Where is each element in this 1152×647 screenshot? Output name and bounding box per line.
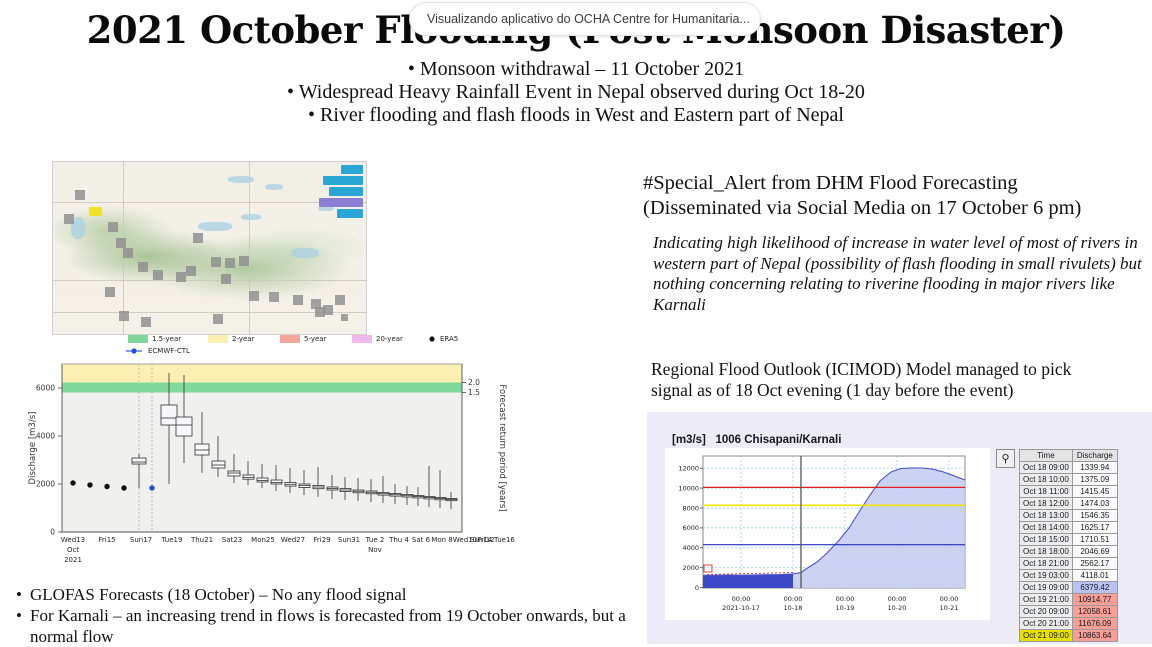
map-road [249, 162, 250, 334]
nepal-station-map[interactable] [52, 161, 367, 335]
map-marker[interactable] [105, 287, 115, 297]
cell-discharge: 1375.09 [1072, 474, 1117, 486]
x-sublabel-oct: Oct [67, 546, 79, 554]
bullet-dot: • [8, 605, 30, 647]
icimod-y-ticks: 12000 10000 8000 6000 4000 2000 0 [678, 465, 699, 593]
y-tick-6000: 6000 [682, 524, 699, 532]
map-marker[interactable] [116, 238, 126, 248]
map-road [53, 280, 366, 281]
map-legend-buttons[interactable] [319, 165, 363, 218]
map-marker[interactable] [221, 274, 231, 284]
zoom-icon[interactable]: ⚲ [996, 449, 1015, 468]
y-tick-labels: 0 2000 4000 6000 [36, 384, 62, 537]
x-tick-time-1: 00:00 [732, 595, 751, 603]
legend-label-1_5-year: 1.5-year [152, 335, 181, 343]
x-tick-mon25: Mon25 [251, 536, 275, 544]
cell-time: Oct 18 21:00 [1020, 558, 1073, 570]
x-tick-sun31: Sun31 [338, 536, 360, 544]
era5-point [70, 480, 75, 485]
y-tick-2000: 2000 [36, 480, 55, 489]
map-marker[interactable] [239, 256, 249, 266]
map-marker[interactable] [64, 214, 74, 224]
cell-time: Oct 20 09:00 [1020, 606, 1073, 618]
table-row[interactable]: Oct 20 09:0012058.61 [1020, 606, 1118, 618]
icimod-panel: [m3/s] 1006 Chisapani/Karnali [647, 412, 1152, 644]
x-tick-tue2: Tue 2 [365, 536, 385, 544]
bullet-dot: • [8, 584, 30, 605]
table-row[interactable]: Oct 21 09:0010863.64 [1020, 630, 1118, 642]
cell-discharge: 1474.03 [1072, 498, 1117, 510]
x-tick-wed13: Wed13 [61, 536, 85, 544]
list-item: • For Karnali – an increasing trend in f… [8, 605, 628, 647]
x-tick-thu4: Thu 4 [388, 536, 409, 544]
legend-label-ecmwf-ctl: ECMWF-CTL [148, 347, 190, 355]
regional-outlook-caption: Regional Flood Outlook (ICIMOD) Model ma… [651, 359, 1151, 401]
table-body: Oct 18 09:001339.94Oct 18 10:001375.09Oc… [1020, 462, 1118, 642]
y-tick-0: 0 [50, 528, 55, 537]
column-header-time: Time [1020, 450, 1073, 462]
y-tick-2000: 2000 [682, 564, 699, 572]
subtitle-line-3: • River flooding and flash floods in Wes… [0, 104, 1152, 127]
cell-time: Oct 19 03:00 [1020, 570, 1073, 582]
cell-time: Oct 18 14:00 [1020, 522, 1073, 534]
x-tick-sat6: Sat 6 [412, 536, 431, 544]
legend-label-era5: ERA5 [440, 335, 458, 343]
subtitle-bullets: • Monsoon withdrawal – 11 October 2021 •… [0, 58, 1152, 127]
x-tick-wed27: Wed27 [281, 536, 305, 544]
y-axis-label: Discharge [m3/s] [28, 412, 38, 485]
map-legend-button[interactable] [337, 209, 363, 218]
browser-tooltip: Visualizando aplicativo do OCHA Centre f… [409, 2, 761, 36]
map-marker[interactable] [186, 266, 196, 276]
x-tick-labels: Wed13 Fri15 Sun17 Tue19 Thu21 Sat23 Mon2… [61, 536, 495, 564]
glofas-boxplot-chart: 1.5-year 2-year 5-year 20-year ERA5 ECMW… [22, 332, 512, 572]
legend-label-2-year: 2-year [232, 335, 255, 343]
cell-time: Oct 19 21:00 [1020, 594, 1073, 606]
x-sublabel-nov: Nov [368, 546, 382, 554]
table-row[interactable]: Oct 18 12:001474.03 [1020, 498, 1118, 510]
icimod-data-table-wrap: ⚲ Time Discharge Oct 18 09:001339.94Oct … [1019, 449, 1118, 642]
x-tick-sat23: Sat23 [222, 536, 242, 544]
map-legend-button[interactable] [323, 176, 363, 185]
cell-discharge: 2046.69 [1072, 546, 1117, 558]
table-row[interactable]: Oct 18 21:002562.17 [1020, 558, 1118, 570]
map-marker[interactable] [249, 291, 259, 301]
x-tick-date-1: 2021-10-17 [722, 604, 760, 612]
table-row[interactable]: Oct 18 09:001339.94 [1020, 462, 1118, 474]
cell-time: Oct 18 10:00 [1020, 474, 1073, 486]
map-marker[interactable] [123, 248, 133, 258]
x-tick-date-2: 10-18 [784, 604, 803, 612]
x-tick-sun17: Sun17 [130, 536, 152, 544]
map-marker[interactable] [213, 314, 223, 324]
list-item: • GLOFAS Forecasts (18 October) – No any… [8, 584, 628, 605]
map-legend-button[interactable] [329, 187, 363, 196]
chart-legend: 1.5-year 2-year 5-year 20-year ERA5 ECMW… [126, 335, 458, 355]
regional-outlook-line2: signal as of 18 Oct evening (1 day befor… [651, 380, 1151, 401]
x-tick-fri15: Fri15 [98, 536, 115, 544]
map-marker[interactable] [269, 292, 279, 302]
legend-swatch-1_5-year [128, 335, 148, 343]
cell-time: Oct 18 12:00 [1020, 498, 1073, 510]
cell-discharge: 1339.94 [1072, 462, 1117, 474]
cell-discharge: 1625.17 [1072, 522, 1117, 534]
icimod-hydrograph-chart: 12000 10000 8000 6000 4000 2000 0 [665, 448, 990, 620]
y-tick-4000: 4000 [36, 432, 55, 441]
table-row[interactable]: Oct 18 13:001546.35 [1020, 510, 1118, 522]
table-row[interactable]: Oct 20 21:0011676.09 [1020, 618, 1118, 630]
table-row[interactable]: Oct 18 18:002046.69 [1020, 546, 1118, 558]
y2-axis-label: Forecast return period [years] [497, 384, 507, 511]
map-marker[interactable] [119, 311, 129, 321]
cell-discharge: 2562.17 [1072, 558, 1117, 570]
special-alert-heading: #Special_Alert from DHM Flood Forecastin… [643, 171, 1151, 221]
legend-swatch-2-year [208, 335, 228, 343]
y2-tick-labels: 2.0 1.5 [462, 378, 480, 397]
era5-point [104, 484, 109, 489]
map-water-body [198, 222, 232, 231]
slide-canvas: 2021 October Flooding (Post Monsoon Disa… [0, 0, 1152, 644]
cell-discharge: 1415.45 [1072, 486, 1117, 498]
band-1_5-year [63, 383, 462, 393]
icimod-x-ticks: 00:00 2021-10-17 00:00 10-18 00:00 10-19… [722, 595, 958, 612]
y-tick-10000: 10000 [678, 484, 699, 492]
cell-discharge: 1710.51 [1072, 534, 1117, 546]
legend-label-5-year: 5-year [304, 335, 327, 343]
x-tick-time-3: 00:00 [836, 595, 855, 603]
era5-point [87, 482, 92, 487]
cell-time: Oct 18 18:00 [1020, 546, 1073, 558]
y2-tick-2_0: 2.0 [468, 378, 480, 387]
x-tick-tue19: Tue19 [161, 536, 183, 544]
cell-time: Oct 18 09:00 [1020, 462, 1073, 474]
map-marker[interactable] [75, 190, 85, 200]
map-marker[interactable] [225, 258, 235, 268]
map-marker[interactable] [293, 295, 303, 305]
special-alert-heading-line2: (Disseminated via Social Media on 17 Oct… [643, 196, 1151, 221]
x-tick-date-3: 10-19 [836, 604, 855, 612]
map-marker[interactable] [176, 272, 186, 282]
map-marker[interactable] [193, 233, 203, 243]
map-marker-highlight[interactable] [89, 207, 102, 216]
map-water-body [241, 214, 261, 220]
cell-time: Oct 18 13:00 [1020, 510, 1073, 522]
ecmwf-ctl-point [149, 485, 154, 490]
regional-outlook-line1: Regional Flood Outlook (ICIMOD) Model ma… [651, 359, 1151, 380]
subtitle-line-1: • Monsoon withdrawal – 11 October 2021 [0, 58, 1152, 81]
x-tick-fri29: Fri29 [313, 536, 330, 544]
plot-area: 0 2000 4000 6000 Discharge [m3/s] 2.0 1.… [28, 364, 507, 564]
table-row[interactable]: Oct 18 15:001710.51 [1020, 534, 1118, 546]
table-row[interactable]: Oct 19 03:004118.01 [1020, 570, 1118, 582]
era5-point [121, 485, 126, 490]
cell-time: Oct 18 11:00 [1020, 486, 1073, 498]
special-alert-heading-line1: #Special_Alert from DHM Flood Forecastin… [643, 171, 1151, 196]
map-legend-button[interactable] [319, 198, 363, 207]
x-tick-time-5: 00:00 [940, 595, 959, 603]
map-water-body [228, 176, 254, 183]
y-tick-12000: 12000 [678, 465, 699, 473]
cell-discharge: 1546.35 [1072, 510, 1117, 522]
subtitle-line-2: • Widespread Heavy Rainfall Event in Nep… [0, 81, 1152, 104]
legend-swatch-5-year [280, 335, 300, 343]
map-water-body [265, 184, 283, 190]
map-marker[interactable] [141, 317, 151, 327]
tooltip-text: Visualizando aplicativo do OCHA Centre f… [427, 12, 750, 26]
x-tick-tue16-label: Tue16 [494, 536, 515, 544]
glofas-summary-bullets: • GLOFAS Forecasts (18 October) – No any… [8, 584, 628, 647]
y-tick-4000: 4000 [682, 544, 699, 552]
band-2-year [63, 365, 462, 383]
y-tick-0: 0 [695, 584, 699, 592]
cell-time: Oct 21 09:00 [1020, 630, 1073, 642]
cell-discharge: 10863.64 [1072, 630, 1117, 642]
x-tick-date-4: 10-20 [888, 604, 907, 612]
map-marker[interactable] [211, 257, 221, 267]
cell-time: Oct 18 15:00 [1020, 534, 1073, 546]
cell-discharge: 10914.77 [1072, 594, 1117, 606]
map-marker[interactable] [341, 314, 348, 321]
x-tick-time-4: 00:00 [888, 595, 907, 603]
column-header-discharge: Discharge [1072, 450, 1117, 462]
map-marker[interactable] [108, 222, 118, 232]
table-row[interactable]: Oct 18 10:001375.09 [1020, 474, 1118, 486]
bullet-text: GLOFAS Forecasts (18 October) – No any f… [30, 584, 406, 605]
x-tick-time-2: 00:00 [784, 595, 803, 603]
x-tick-mon8: Mon 8 [431, 536, 452, 544]
icimod-chart-title: [m3/s] 1006 Chisapani/Karnali [672, 434, 841, 446]
cell-time: Oct 20 21:00 [1020, 618, 1073, 630]
map-water-body [291, 248, 319, 258]
legend-marker-ecmwf [131, 348, 136, 353]
icimod-hydrograph-svg: 12000 10000 8000 6000 4000 2000 0 [665, 448, 990, 620]
legend-marker-era5 [429, 336, 434, 341]
discharge-table: Time Discharge Oct 18 09:001339.94Oct 18… [1019, 449, 1118, 642]
cell-time: Oct 19 09:00 [1020, 582, 1073, 594]
cell-discharge: 4118.01 [1072, 570, 1117, 582]
bullet-text: For Karnali – an increasing trend in flo… [30, 605, 628, 647]
special-alert-body: Indicating high likelihood of increase i… [653, 233, 1152, 315]
cell-discharge: 11676.09 [1072, 618, 1117, 630]
map-marker[interactable] [153, 270, 163, 280]
icimod-unit-label: [m3/s] [672, 434, 706, 446]
map-legend-button[interactable] [341, 165, 363, 174]
icimod-station-name: 1006 Chisapani/Karnali [715, 434, 841, 446]
x-sublabel-2021: 2021 [64, 556, 82, 564]
map-marker[interactable] [138, 262, 148, 272]
x-tick-date-5: 10-21 [940, 604, 959, 612]
cell-discharge: 12058.61 [1072, 606, 1117, 618]
map-marker[interactable] [323, 305, 333, 315]
y2-tick-1_5: 1.5 [468, 388, 480, 397]
table-row[interactable]: Oct 19 21:0010914.77 [1020, 594, 1118, 606]
x-tick-sun14-label: Sun14 [470, 536, 492, 544]
y-tick-6000: 6000 [36, 384, 55, 393]
table-row[interactable]: Oct 19 09:006379.42 [1020, 582, 1118, 594]
table-header-row: Time Discharge [1020, 450, 1118, 462]
table-row[interactable]: Oct 18 14:001625.17 [1020, 522, 1118, 534]
cell-discharge: 6379.42 [1072, 582, 1117, 594]
x-tick-thu21: Thu21 [190, 536, 213, 544]
legend-swatch-20-year [352, 335, 372, 343]
y-tick-8000: 8000 [682, 504, 699, 512]
observed-area [703, 574, 793, 588]
legend-label-20-year: 20-year [376, 335, 403, 343]
glofas-boxplot-svg: 1.5-year 2-year 5-year 20-year ERA5 ECMW… [22, 332, 512, 572]
table-row[interactable]: Oct 18 11:001415.45 [1020, 486, 1118, 498]
map-marker[interactable] [335, 295, 345, 305]
